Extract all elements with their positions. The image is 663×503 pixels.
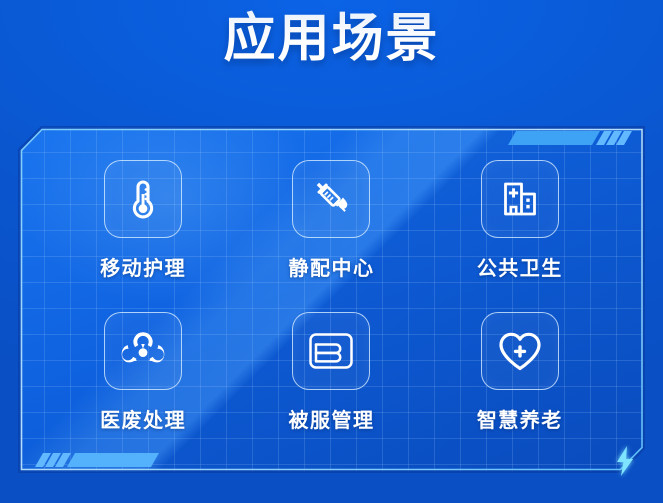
icon-container — [292, 312, 370, 390]
thermometer-icon — [122, 178, 164, 220]
icon-container — [104, 160, 182, 238]
biohazard-icon — [120, 328, 166, 374]
scenario-card[interactable]: 移动护理 — [100, 160, 186, 281]
scenario-card-label: 智慧养老 — [477, 404, 563, 433]
page-title-area: 应用场景 — [0, 8, 663, 70]
scenario-card[interactable]: 医废处理 — [100, 312, 186, 433]
scenario-card[interactable]: 静配中心 — [288, 160, 374, 281]
icon-container — [292, 160, 370, 238]
scenario-card[interactable]: 被服管理 — [288, 312, 374, 433]
scenario-card[interactable]: 智慧养老 — [477, 312, 563, 433]
scenario-card-label: 静配中心 — [288, 252, 374, 281]
hospital-icon — [498, 177, 542, 221]
scenario-card[interactable]: 公共卫生 — [477, 160, 563, 281]
scenario-card-label: 移动护理 — [100, 252, 186, 281]
icon-container — [104, 312, 182, 390]
syringe-drop-icon — [309, 177, 353, 221]
icon-container — [481, 160, 559, 238]
scene-root: 应用场景 — [0, 0, 663, 503]
scenario-card-label: 被服管理 — [288, 404, 374, 433]
page-title: 应用场景 — [223, 8, 439, 70]
scenario-card-grid: 移动护理 — [19, 127, 644, 472]
scenario-card-label: 医废处理 — [100, 404, 186, 433]
scenario-card-label: 公共卫生 — [477, 252, 563, 281]
heart-plus-icon — [497, 330, 543, 372]
folded-linen-icon — [308, 332, 354, 370]
icon-container — [481, 312, 559, 390]
